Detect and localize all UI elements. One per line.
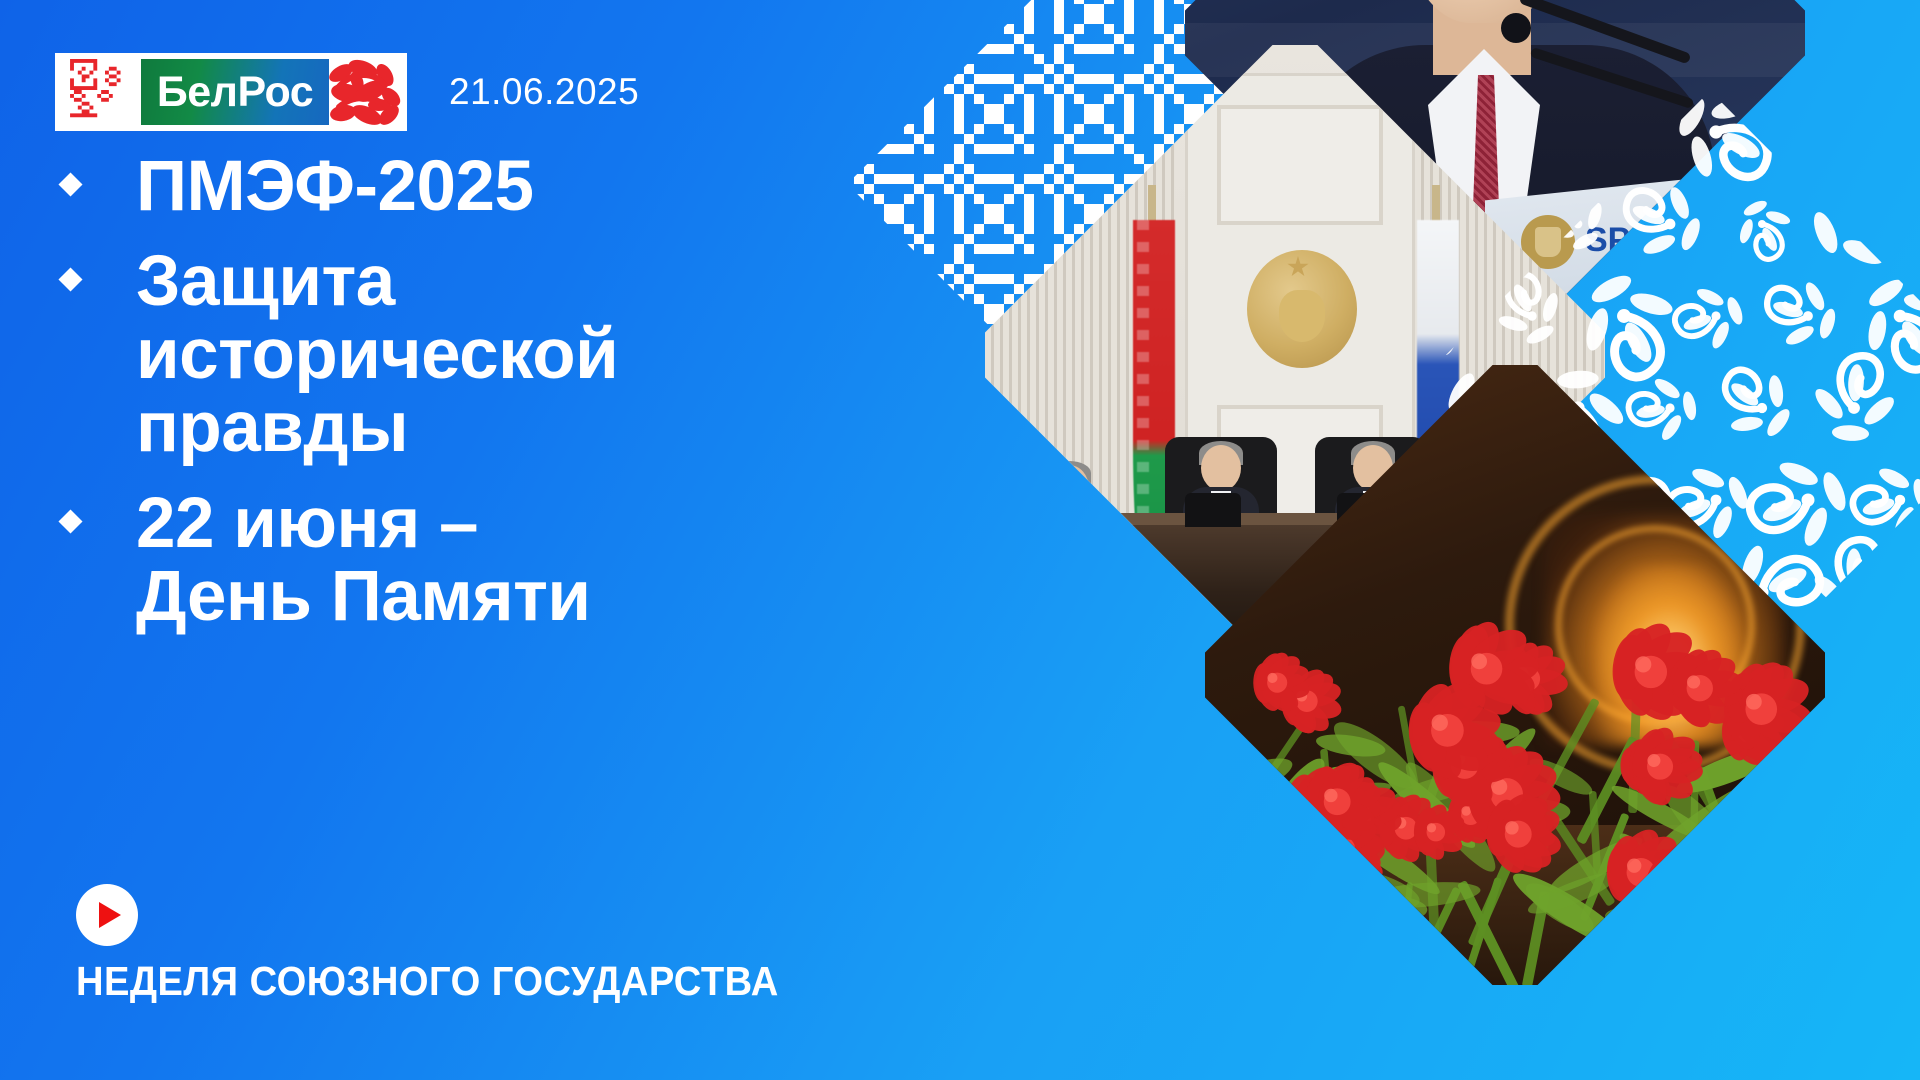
photo-collage: РОСКОНГРЕСС Пространство доверия SP xyxy=(930,0,1920,1080)
play-button[interactable] xyxy=(76,884,138,946)
belros-wordmark: БелРос xyxy=(157,71,313,114)
poster-canvas: РОСКОНГРЕСС Пространство доверия SP xyxy=(0,0,1920,1080)
list-item: 22 июня – День Памяти xyxy=(52,487,912,633)
logo-row: БелРос 21.06.2025 xyxy=(55,53,639,131)
program-title: НЕДЕЛЯ СОЮЗНОГО ГОСУДАРСТВА xyxy=(76,958,779,1005)
diamond-bullet-icon xyxy=(58,268,82,292)
diamond-bullet-icon xyxy=(58,172,82,196)
headline-text: 22 июня – День Памяти xyxy=(136,487,591,633)
belros-wordmark-box: БелРос xyxy=(141,59,329,125)
list-item: ПМЭФ-2025 xyxy=(52,150,912,223)
belros-logo[interactable]: БелРос xyxy=(55,53,407,131)
play-icon xyxy=(99,902,121,928)
headline-text: Защита исторической правды xyxy=(136,245,618,464)
red-floral-ornament-icon xyxy=(329,59,401,125)
broadcast-date: 21.06.2025 xyxy=(449,71,639,113)
diamond-bullet-icon xyxy=(58,509,82,533)
list-item: Защита исторической правды xyxy=(52,245,912,464)
belarusian-ornament-icon xyxy=(61,59,141,125)
headline-bullet-list: ПМЭФ-2025 Защита исторической правды 22 … xyxy=(52,150,912,655)
left-content-column: БелРос 21.06.2025 ПМЭФ-2025 Защита истор… xyxy=(0,0,1000,1080)
belarus-coat-of-arms xyxy=(1247,250,1357,368)
headline-text: ПМЭФ-2025 xyxy=(136,150,533,223)
